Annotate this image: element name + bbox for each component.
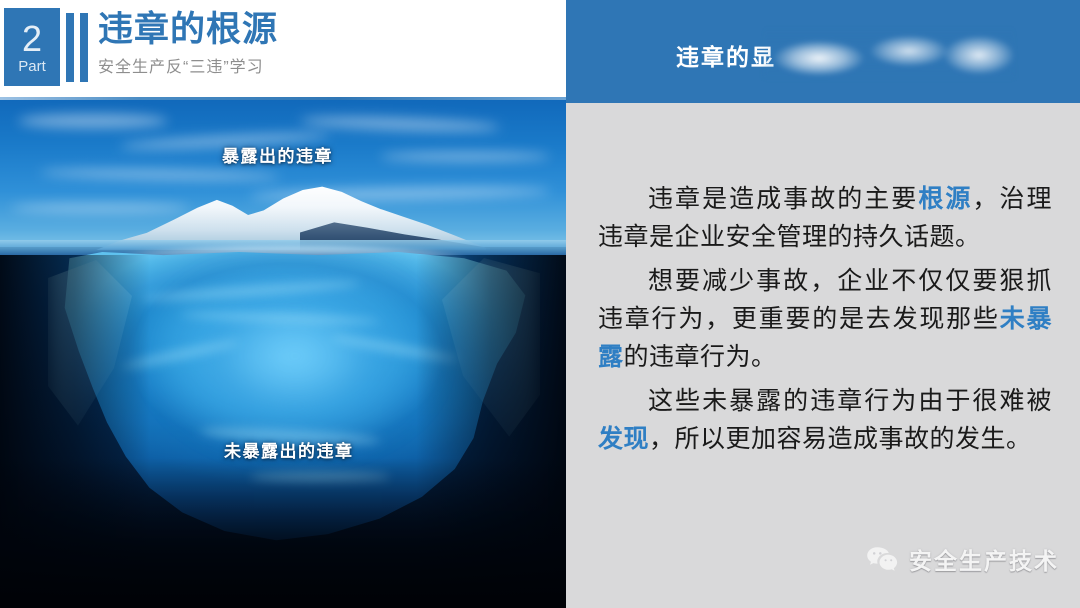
part-badge-label: Part xyxy=(18,59,46,74)
body-paragraph: 想要减少事故，企业不仅仅要狠抓违章行为，更重要的是去发现那些未暴露的违章行为。 xyxy=(598,262,1052,376)
page-subtitle: 安全生产反“三违”学习 xyxy=(98,53,538,77)
iceberg-label-exposed: 暴露出的违章 xyxy=(222,142,333,167)
wechat-watermark: 安全生产技术 xyxy=(866,542,1059,576)
page-title: 违章的根源 xyxy=(98,10,538,49)
blurred-overlay xyxy=(764,26,1014,78)
part-badge: 2 Part xyxy=(4,8,60,86)
body-paragraph: 这些未暴露的违章行为由于很难被发现，所以更加容易造成事故的发生。 xyxy=(598,382,1052,458)
right-panel: 违章的显 违章是造成事故的主要根源，治理违章是企业安全管理的持久话题。想要减少事… xyxy=(566,0,1080,608)
slide-root: 2 Part 违章的根源 安全生产反“三违”学习 xyxy=(0,0,1080,608)
body-text-segment: 违章是造成事故的主要 xyxy=(648,185,918,213)
wechat-icon xyxy=(866,546,900,572)
water-vignette-bottom xyxy=(0,458,566,608)
right-panel-header: 违章的显 xyxy=(566,0,1080,103)
right-panel-header-title: 违章的显 xyxy=(676,38,776,72)
left-panel-header: 2 Part 违章的根源 安全生产反“三违”学习 xyxy=(0,0,566,100)
highlighted-keyword: 根源 xyxy=(918,185,972,213)
title-divider-bar-1 xyxy=(66,13,74,82)
body-text-segment: 的违章行为。 xyxy=(624,343,777,371)
left-panel: 2 Part 违章的根源 安全生产反“三违”学习 xyxy=(0,0,566,608)
title-block: 违章的根源 安全生产反“三违”学习 xyxy=(98,10,538,77)
wechat-watermark-text: 安全生产技术 xyxy=(909,542,1059,576)
title-divider-bar-2 xyxy=(80,13,88,82)
body-text-segment: 想要减少事故，企业不仅仅要狠抓违章行为，更重要的是去发现那些 xyxy=(598,267,1052,333)
body-text-segment: 这些未暴露的违章行为由于很难被 xyxy=(648,387,1052,415)
body-text-segment: ，所以更加容易造成事故的发生。 xyxy=(649,425,1032,453)
part-badge-number: 2 xyxy=(22,21,42,57)
cloud-wisp xyxy=(380,152,550,161)
highlighted-keyword: 发现 xyxy=(598,425,649,453)
body-paragraph: 违章是造成事故的主要根源，治理违章是企业安全管理的持久话题。 xyxy=(598,180,1052,256)
cloud-wisp xyxy=(10,204,190,212)
cloud-wisp xyxy=(18,114,168,128)
iceberg-label-hidden: 未暴露出的违章 xyxy=(224,437,354,462)
body-text-content: 违章是造成事故的主要根源，治理违章是企业安全管理的持久话题。想要减少事故，企业不… xyxy=(598,180,1052,464)
iceberg-illustration: 暴露出的违章 未暴露出的违章 xyxy=(0,100,566,608)
